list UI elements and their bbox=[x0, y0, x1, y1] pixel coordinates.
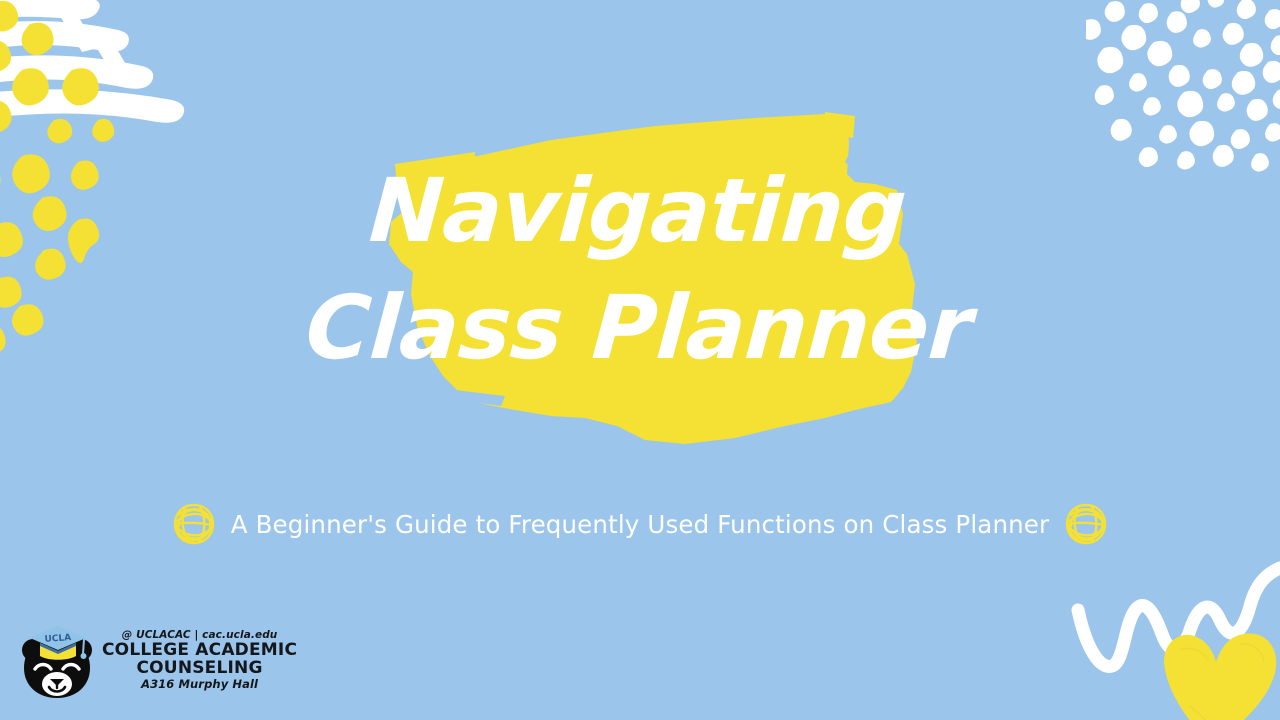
zigzag-wave-icon bbox=[1070, 550, 1280, 720]
logo-name-line-2: COUNSELING bbox=[136, 659, 262, 677]
scribble-circle-icon bbox=[171, 501, 217, 547]
cac-logo: UCLA @ UCLACAC | cac.ucla.edu COLLEGE AC… bbox=[18, 620, 297, 702]
title-line-2: Class Planner bbox=[0, 269, 1280, 386]
ucla-bear-graduate-icon: UCLA bbox=[18, 620, 96, 702]
title-block: Navigating Class Planner bbox=[0, 104, 1280, 464]
heart-icon bbox=[1150, 620, 1280, 720]
logo-text-block: @ UCLACAC | cac.ucla.edu COLLEGE ACADEMI… bbox=[102, 630, 297, 692]
scribble-circle-icon bbox=[1063, 501, 1109, 547]
title-line-1: Navigating bbox=[0, 152, 1280, 269]
svg-text:UCLA: UCLA bbox=[44, 633, 71, 645]
subtitle-text: A Beginner's Guide to Frequently Used Fu… bbox=[231, 510, 1050, 539]
presentation-slide: Navigating Class Planner A Beginner's Gu… bbox=[0, 0, 1280, 720]
logo-name-line-1: COLLEGE ACADEMIC bbox=[102, 641, 297, 659]
subtitle-row: A Beginner's Guide to Frequently Used Fu… bbox=[0, 499, 1280, 549]
page-title: Navigating Class Planner bbox=[0, 152, 1280, 386]
logo-address: A316 Murphy Hall bbox=[141, 677, 258, 690]
